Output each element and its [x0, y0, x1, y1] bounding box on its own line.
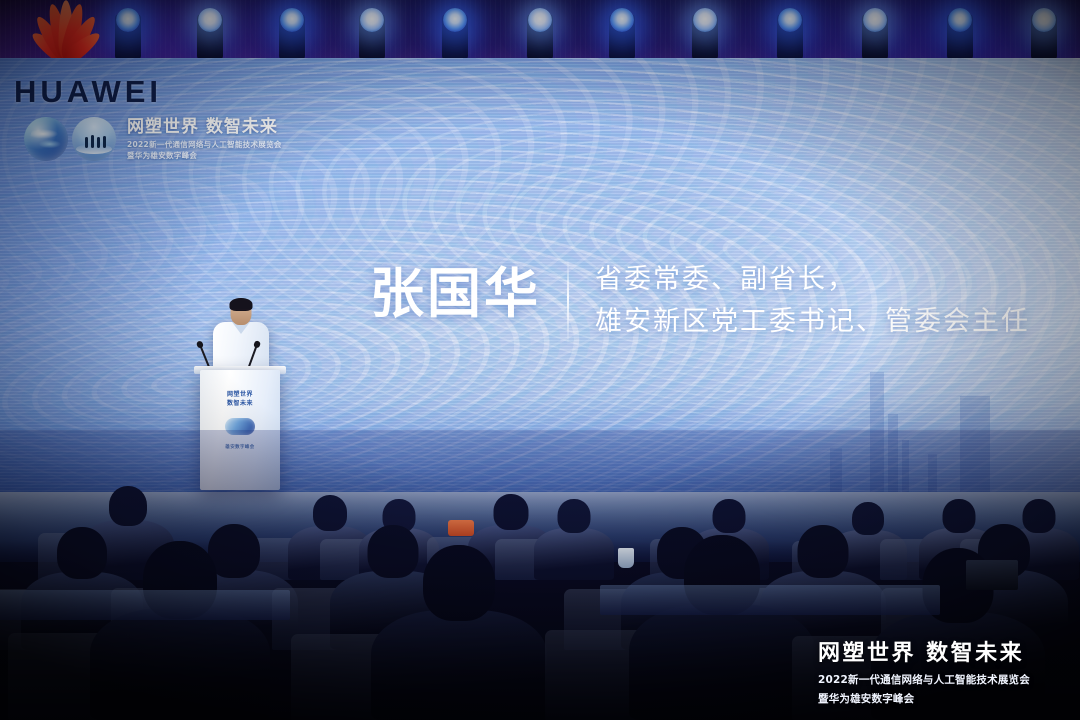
speaker-name-card: 张国华 省委常委、副省长， 雄安新区党工委书记、管委会主任	[370, 253, 1030, 345]
huawei-flower-logo	[14, 0, 118, 60]
glasses-icon	[232, 309, 251, 314]
event-watermark: 网塑世界 数智未来 2022新一代通信网络与人工智能技术展览会 暨华为雄安数字峰…	[818, 642, 1062, 706]
stage-light-10	[839, 0, 911, 62]
watermark-title: 网塑世界 数智未来	[818, 642, 1062, 666]
event-subtitle-line1: 2022新一代通信网络与人工智能技术展览会	[127, 141, 282, 149]
event-subtitle-line2: 暨华为雄安数字峰会	[127, 152, 282, 160]
podium-title-line1: 网塑世界	[227, 391, 253, 398]
name-title-divider	[567, 259, 569, 345]
event-title: 网塑世界 数智未来	[127, 119, 282, 136]
event-logo-globes	[24, 116, 120, 162]
event-logo-lockup: 网塑世界 数智未来 2022新一代通信网络与人工智能技术展览会 暨华为雄安数字峰…	[24, 116, 282, 162]
stage-light-12	[1008, 0, 1080, 62]
laptop-icon	[966, 560, 1018, 590]
audience-table-left	[0, 590, 290, 620]
lighting-truss	[0, 0, 1080, 62]
podium-title: 网塑世界 数智未来	[200, 390, 280, 408]
audience-table-right	[600, 585, 940, 615]
stage-light-9	[754, 0, 826, 62]
speaker-titles: 省委常委、副省长， 雄安新区党工委书记、管委会主任	[595, 253, 1030, 343]
stage-light-3	[256, 0, 328, 62]
globe-network-icon	[24, 117, 68, 161]
city-skyline-people-icon	[72, 117, 116, 161]
speaker-title-line1: 省委常委、副省长，	[595, 259, 1030, 301]
stage-light-6	[504, 0, 576, 62]
podium-title-line2: 数智未来	[227, 400, 253, 407]
watermark-subtitle-line1: 2022新一代通信网络与人工智能技术展览会	[818, 672, 1062, 687]
orange-light-accent	[448, 520, 474, 536]
stage-light-7	[586, 0, 658, 62]
event-logo-text: 网塑世界 数智未来 2022新一代通信网络与人工智能技术展览会 暨华为雄安数字峰…	[127, 119, 282, 159]
stage-light-11	[924, 0, 996, 62]
tea-cup-icon	[618, 548, 634, 568]
conference-stage-photo: HUAWEI 网塑世界 数智未来 2022新一代通信网络与人工智能技术展览会 暨…	[0, 0, 1080, 720]
speaker-name: 张国华	[370, 253, 541, 321]
speaker-title-line2: 雄安新区党工委书记、管委会主任	[595, 301, 1030, 343]
stage-light-2	[174, 0, 246, 62]
stage-light-8	[669, 0, 741, 62]
huawei-wordmark: HUAWEI	[14, 74, 162, 110]
stage-light-4	[336, 0, 408, 62]
stage-light-5	[419, 0, 491, 62]
watermark-subtitle-line2: 暨华为雄安数字峰会	[818, 691, 1062, 706]
